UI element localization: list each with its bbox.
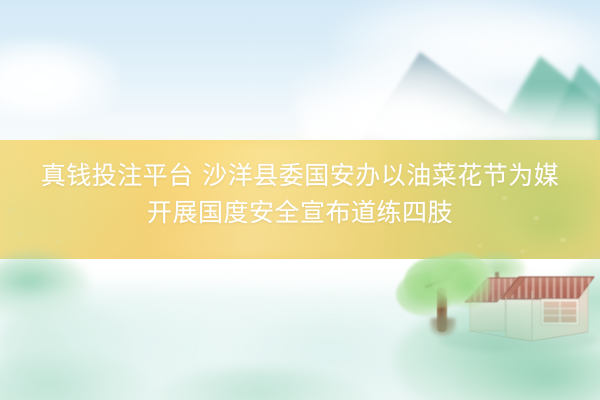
headline: 真钱投注平台 沙洋县委国安办以油菜花节为媒 开展国度安全宣布道练四肢 (0, 157, 600, 231)
banner-image: 真钱投注平台 沙洋县委国安办以油菜花节为媒 开展国度安全宣布道练四肢 (0, 0, 600, 400)
headline-line-2: 开展国度安全宣布道练四肢 (0, 194, 600, 231)
headline-line-1: 真钱投注平台 沙洋县委国安办以油菜花节为媒 (41, 161, 559, 190)
